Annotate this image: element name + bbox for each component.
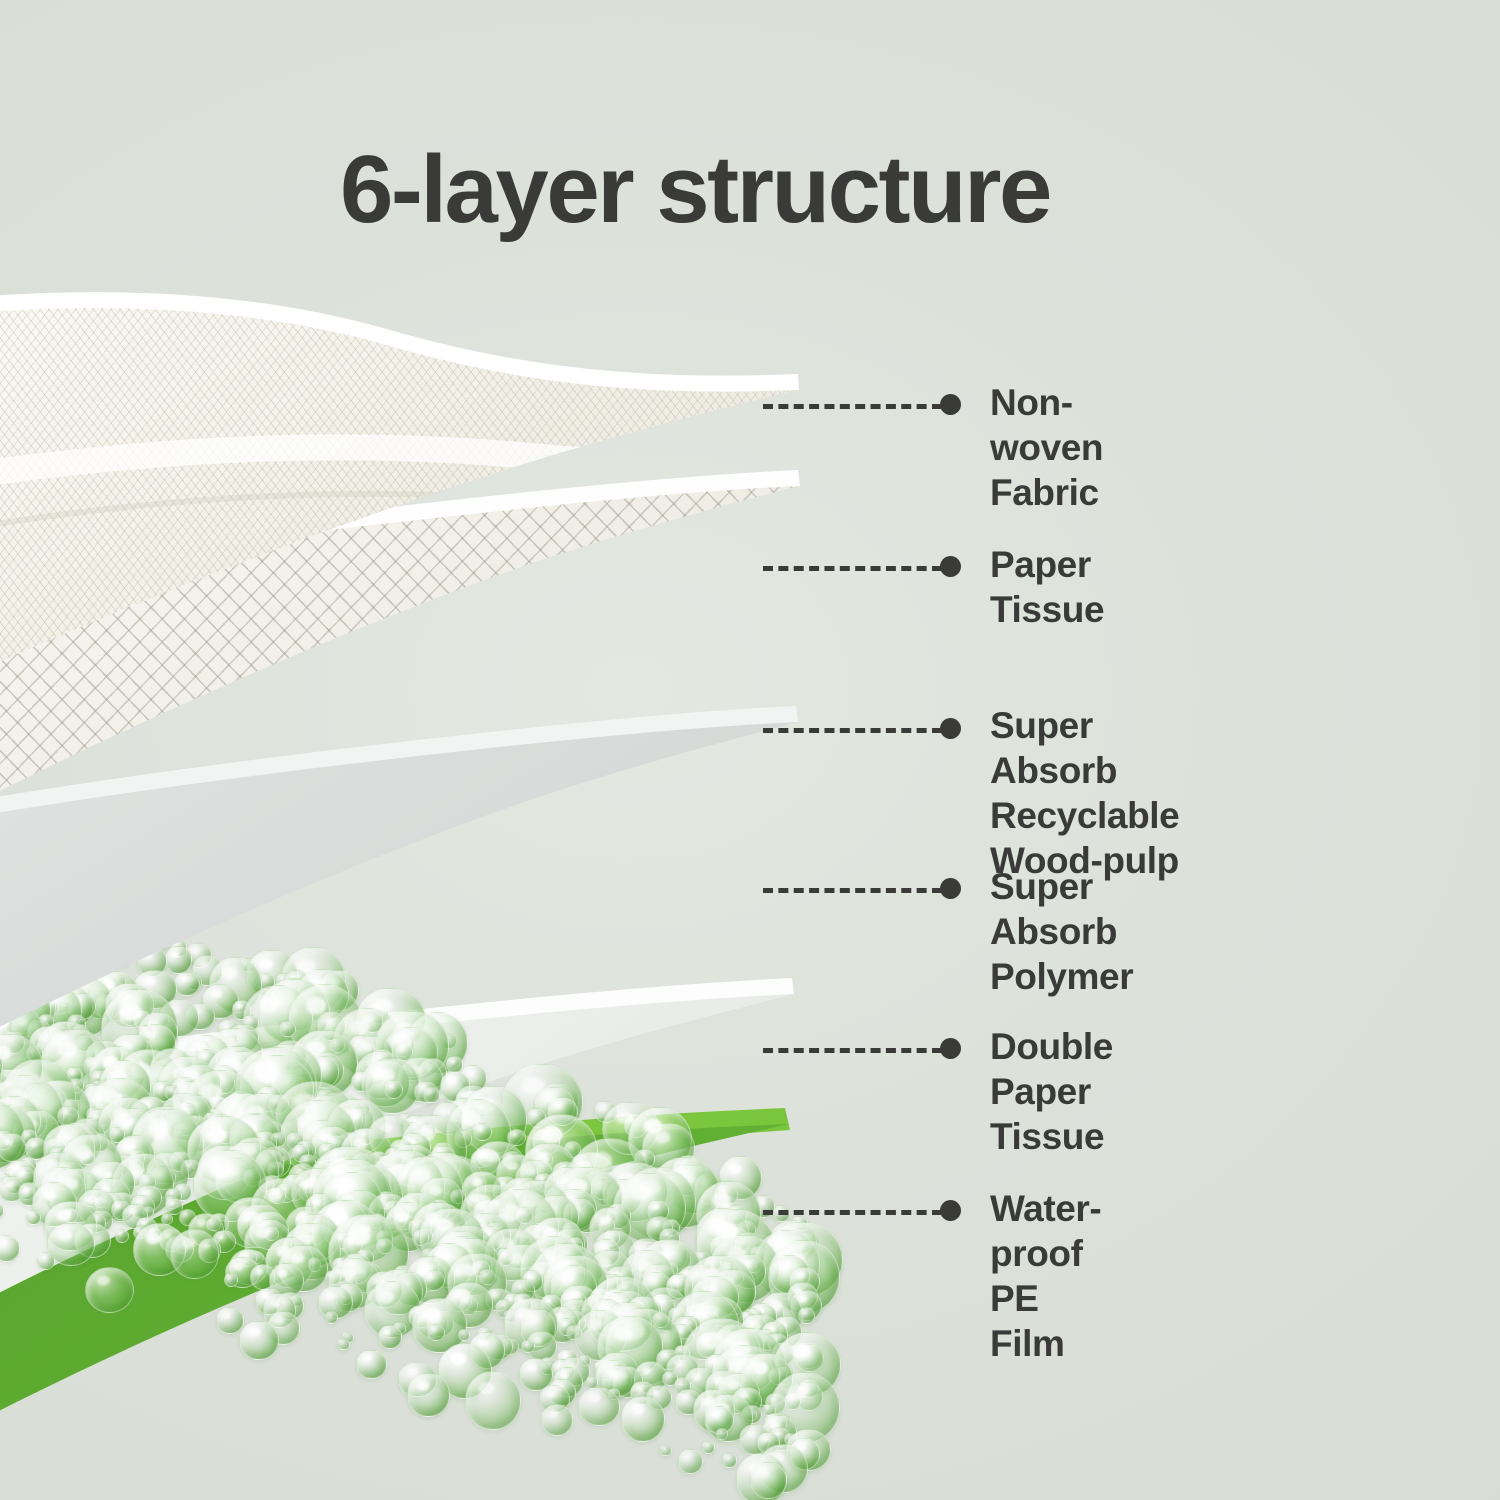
callout-label-water-proof-pe-film: Water-proof PE Film (990, 1186, 1101, 1367)
leader-dot-icon (940, 394, 961, 415)
leader-line-icon (763, 1210, 942, 1215)
callout-label-double-paper-tissue: Double Paper Tissue (990, 1024, 1113, 1159)
layer-stack-illustration (0, 250, 850, 1500)
leader-line-icon (763, 566, 942, 571)
callout-label-non-woven-fabric: Non-woven Fabric (990, 380, 1103, 515)
leader-dot-icon (940, 718, 961, 739)
layer-non-woven-fabric (0, 250, 850, 1500)
callout-label-paper-tissue: Paper Tissue (990, 542, 1104, 632)
leader-line-icon (763, 888, 942, 893)
infographic-canvas: 6-layer structure (0, 0, 1500, 1500)
leader-dot-icon (940, 1200, 961, 1221)
leader-line-icon (763, 728, 942, 733)
leader-line-icon (763, 1048, 942, 1053)
leader-line-icon (763, 404, 942, 409)
leader-dot-icon (940, 878, 961, 899)
leader-dot-icon (940, 1038, 961, 1059)
leader-dot-icon (940, 556, 961, 577)
callout-label-super-absorb-recyclable-wood-pulp: Super Absorb Recyclable Wood-pulp (990, 703, 1179, 884)
page-title: 6-layer structure (340, 142, 1050, 238)
callout-label-super-absorb-polymer: Super Absorb Polymer (990, 864, 1133, 999)
